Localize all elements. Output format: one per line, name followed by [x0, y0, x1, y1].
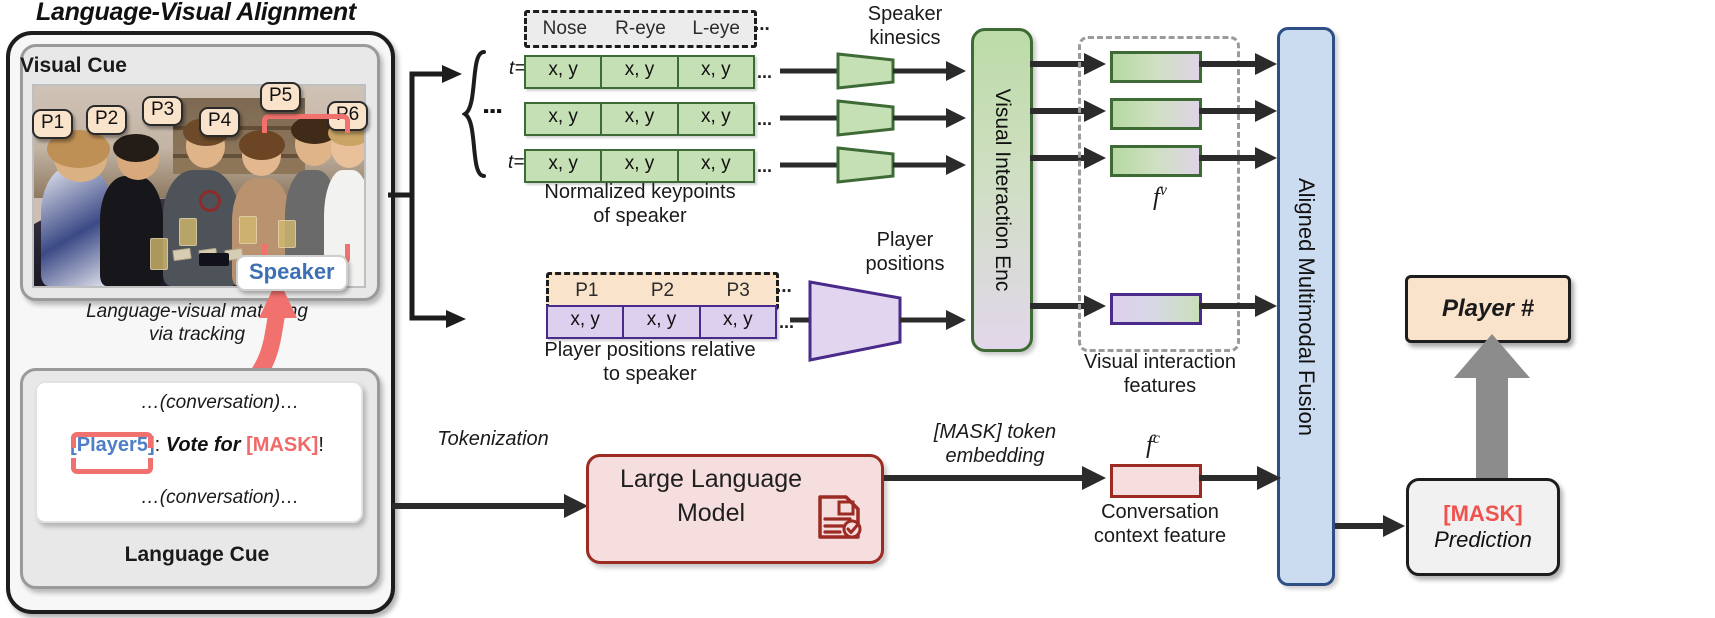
- keypoint-row-2: x, y x, y x, y: [524, 102, 755, 136]
- player-label-p2: P2: [86, 105, 127, 135]
- player-positions-encoder: [790, 278, 970, 364]
- player-positions-header-p2: P2: [625, 280, 701, 302]
- lang-to-llm-arrow: [392, 492, 592, 520]
- fc-to-fusion-arrow: [1199, 464, 1283, 492]
- llm-label: Large Language Model: [586, 462, 836, 530]
- keypoint-header-reye: R-eye: [603, 18, 679, 40]
- keypoint-cell: x, y: [679, 151, 753, 181]
- speaker-tag: Speaker: [236, 255, 348, 291]
- feature-to-fusion-arrow-2: [1199, 97, 1279, 125]
- player-positions-header-p3: P3: [700, 280, 776, 302]
- mask-token: [MASK]: [246, 434, 318, 456]
- conversation-feature-box: [1110, 464, 1202, 498]
- page-title: Language-Visual Alignment: [36, 0, 356, 27]
- keypoint-cell: x, y: [526, 57, 602, 87]
- fv-symbol: f: [1153, 183, 1160, 210]
- document-check-icon: [812, 489, 866, 543]
- keypoint-row-3: x, y x, y x, y: [524, 149, 755, 183]
- visual-interaction-encoder[interactable]: Visual Interaction Enc: [971, 28, 1033, 352]
- speaker-kinesics-encoder-row-2: [780, 97, 970, 139]
- mask-prediction-box: [MASK] Prediction: [1406, 478, 1560, 576]
- keypoint-cell: x, y: [526, 104, 602, 134]
- player-label-p3: P3: [142, 96, 183, 126]
- conversation-feature-caption: Conversation context feature: [1060, 500, 1260, 548]
- language-visual-matching-note: Language-visual matching via tracking: [20, 300, 374, 346]
- keypoint-header-ellipsis: ...: [754, 14, 770, 36]
- visual-feature-box-1: [1110, 51, 1202, 83]
- keypoint-cell: x, y: [679, 57, 753, 87]
- player-positions-edge-label: Player positions: [840, 228, 970, 276]
- keypoint-header-row: Nose R-eye L-eye: [524, 10, 757, 48]
- player-positions-header-p1: P1: [549, 280, 625, 302]
- visual-interaction-features-caption: Visual interaction features: [1060, 350, 1260, 398]
- keypoint-row-1: x, y x, y x, y: [524, 55, 755, 89]
- player-position-feature-box: [1110, 293, 1202, 325]
- visual-cue-branch-connector: [386, 60, 466, 350]
- conversation-feature-symbol: fc: [1118, 430, 1188, 459]
- fusion-label: Aligned Multimodal Fusion: [1293, 177, 1319, 435]
- fusion-to-prediction-arrow: [1335, 512, 1407, 540]
- visual-interaction-encoder-label: Visual Interaction Enc: [990, 89, 1014, 292]
- player-positions-caption: Player positions relative to speaker: [470, 338, 830, 386]
- aligned-multimodal-fusion[interactable]: Aligned Multimodal Fusion: [1277, 27, 1335, 586]
- feature-to-fusion-arrow-4: [1199, 292, 1279, 320]
- exclamation: !: [318, 434, 324, 456]
- keypoint-row-ellipsis: ...: [757, 109, 772, 130]
- keypoint-row-ellipsis: ...: [757, 62, 772, 83]
- visual-cue-heading: Visual Cue: [20, 54, 374, 78]
- fc-superscript: c: [1153, 430, 1160, 447]
- player-position-cell: x, y: [624, 307, 700, 337]
- feature-to-fusion-arrow-3: [1199, 144, 1279, 172]
- mask-token-embedding-label: [MASK] token embedding: [900, 420, 1090, 468]
- player-label-p1: P1: [32, 109, 73, 139]
- colon: :: [155, 434, 166, 456]
- player-name-highlight-top: [71, 432, 153, 448]
- player-position-cell: x, y: [548, 307, 624, 337]
- feature-to-fusion-arrow-1: [1199, 50, 1279, 78]
- prediction-label: Prediction: [1434, 527, 1532, 553]
- keypoint-cell: x, y: [602, 151, 678, 181]
- prediction-up-arrow-icon: [1452, 330, 1532, 490]
- speaker-kinesics-encoder-row-3: [780, 144, 970, 186]
- timestep-vertical-ellipsis: ⋮: [488, 100, 496, 122]
- player-label-p5: P5: [260, 82, 301, 112]
- branch-lower-arrow-head: [440, 308, 470, 330]
- utterance-text: Vote for: [166, 434, 246, 456]
- speaker-kinesics-encoder-row-1: [780, 50, 970, 92]
- visual-feature-symbol: fv: [1120, 182, 1200, 211]
- llm-to-fc-arrow: [884, 464, 1110, 492]
- keypoint-cell: x, y: [679, 104, 753, 134]
- keypoint-header-leye: L-eye: [678, 18, 754, 40]
- player-label-p4: P4: [199, 107, 240, 137]
- keypoint-row-ellipsis: ...: [757, 156, 772, 177]
- fc-symbol: f: [1146, 431, 1153, 458]
- fv-superscript: v: [1160, 182, 1167, 199]
- language-cue-heading: Language Cue: [20, 543, 374, 567]
- conversation-line-top: …(conversation)…: [35, 392, 359, 414]
- mask-label: [MASK]: [1443, 501, 1522, 527]
- tokenization-label: Tokenization: [408, 428, 578, 451]
- visual-feature-box-2: [1110, 98, 1202, 130]
- keypoints-caption: Normalized keypoints of speaker: [470, 180, 810, 228]
- keypoint-header-nose: Nose: [527, 18, 603, 40]
- player-positions-row: x, y x, y x, y: [546, 305, 777, 339]
- conversation-line-bottom: …(conversation)…: [35, 487, 359, 509]
- keypoint-cell: x, y: [526, 151, 602, 181]
- keypoint-cell: x, y: [602, 104, 678, 134]
- player-name-highlight-bottom: [71, 458, 153, 474]
- speaker-kinesics-label: Speaker kinesics: [840, 2, 970, 50]
- speaker-highlight-top: [262, 114, 350, 133]
- keypoint-cell: x, y: [602, 57, 678, 87]
- visual-feature-box-3: [1110, 145, 1202, 177]
- player-position-cell: x, y: [701, 307, 775, 337]
